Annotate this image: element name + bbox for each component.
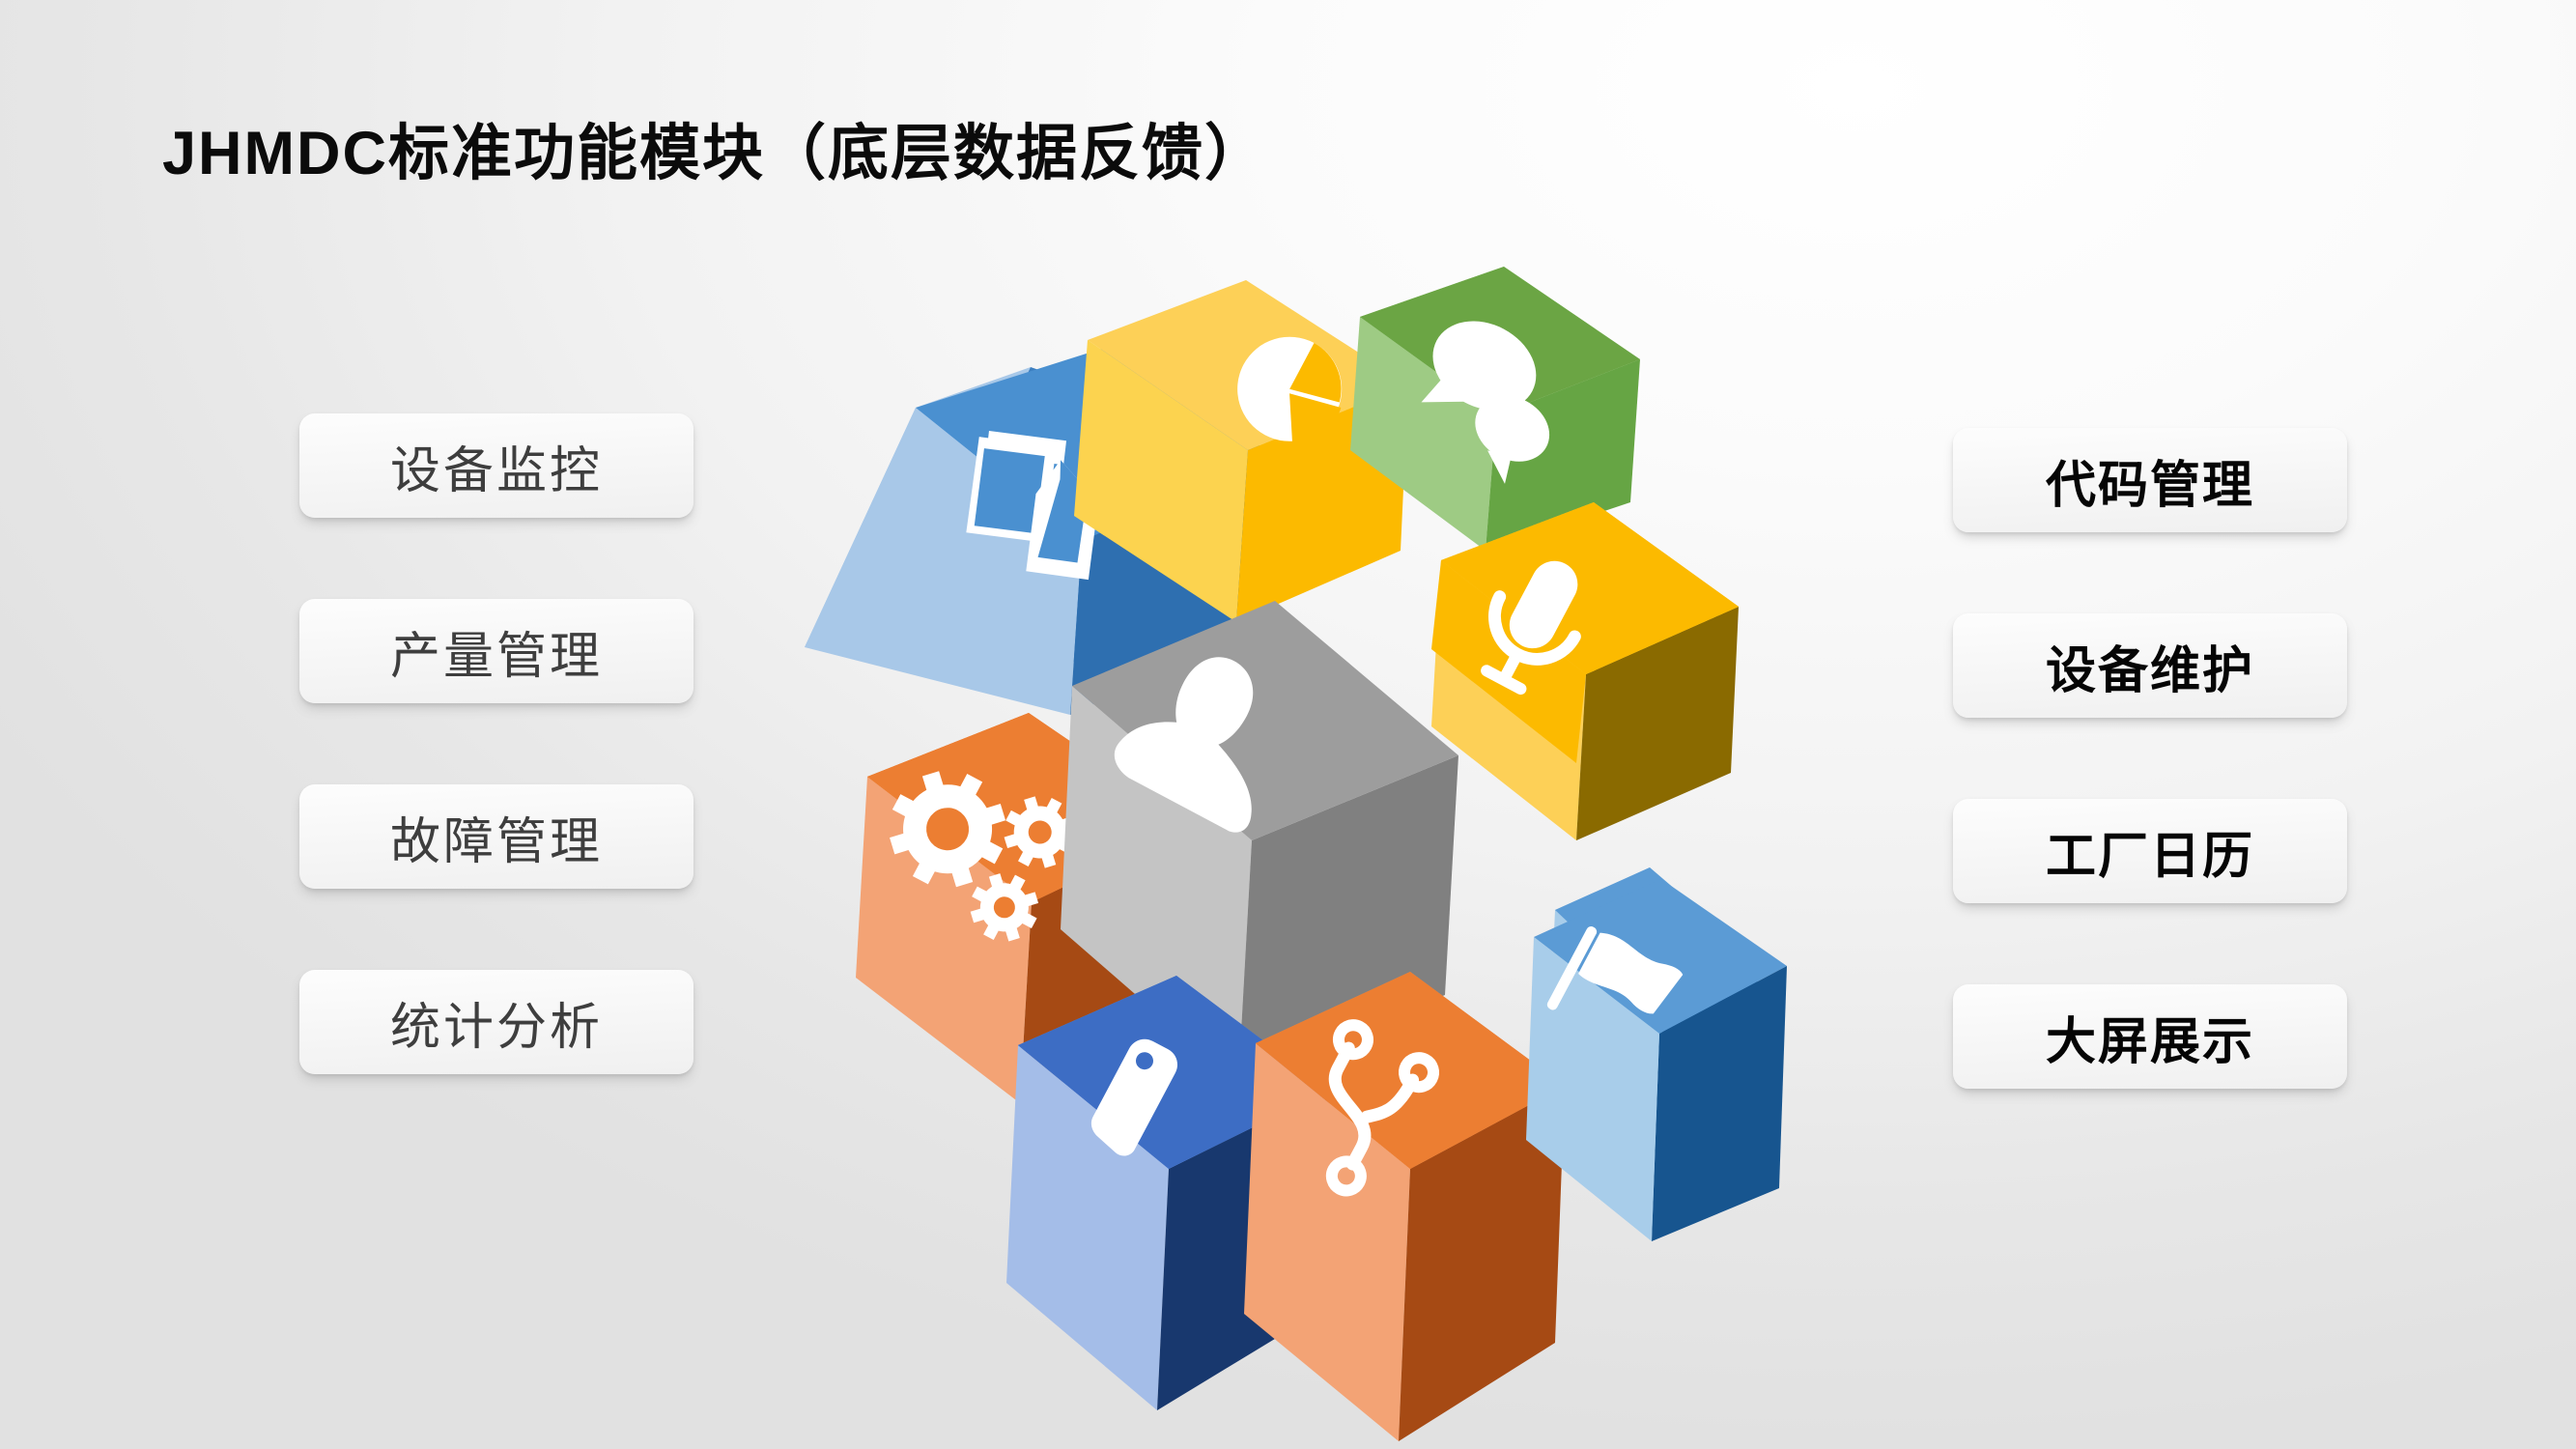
left-label-card-fault-management[interactable]: 故障管理	[299, 784, 694, 889]
right-label-text: 设备维护	[2046, 630, 2254, 702]
cube-cluster-illustration	[792, 261, 1816, 1285]
right-label-card-equipment-maintenance[interactable]: 设备维护	[1953, 613, 2347, 718]
right-label-text: 大屏展示	[2046, 1001, 2254, 1073]
left-label-card-output-management[interactable]: 产量管理	[299, 599, 694, 703]
page-title: JHMDC标准功能模块（底层数据反馈）	[162, 104, 1267, 192]
left-label-text: 设备监控	[390, 430, 603, 502]
right-label-card-big-screen-display[interactable]: 大屏展示	[1953, 984, 2347, 1089]
left-label-card-statistical-analysis[interactable]: 统计分析	[299, 970, 694, 1074]
right-label-card-code-management[interactable]: 代码管理	[1953, 428, 2347, 532]
right-label-text: 代码管理	[2046, 444, 2254, 517]
right-label-card-factory-calendar[interactable]: 工厂日历	[1953, 799, 2347, 903]
left-label-text: 统计分析	[390, 986, 603, 1059]
right-label-text: 工厂日历	[2046, 815, 2254, 888]
left-label-card-equipment-monitoring[interactable]: 设备监控	[299, 413, 694, 518]
left-label-text: 产量管理	[390, 615, 603, 688]
left-label-text: 故障管理	[390, 801, 603, 873]
